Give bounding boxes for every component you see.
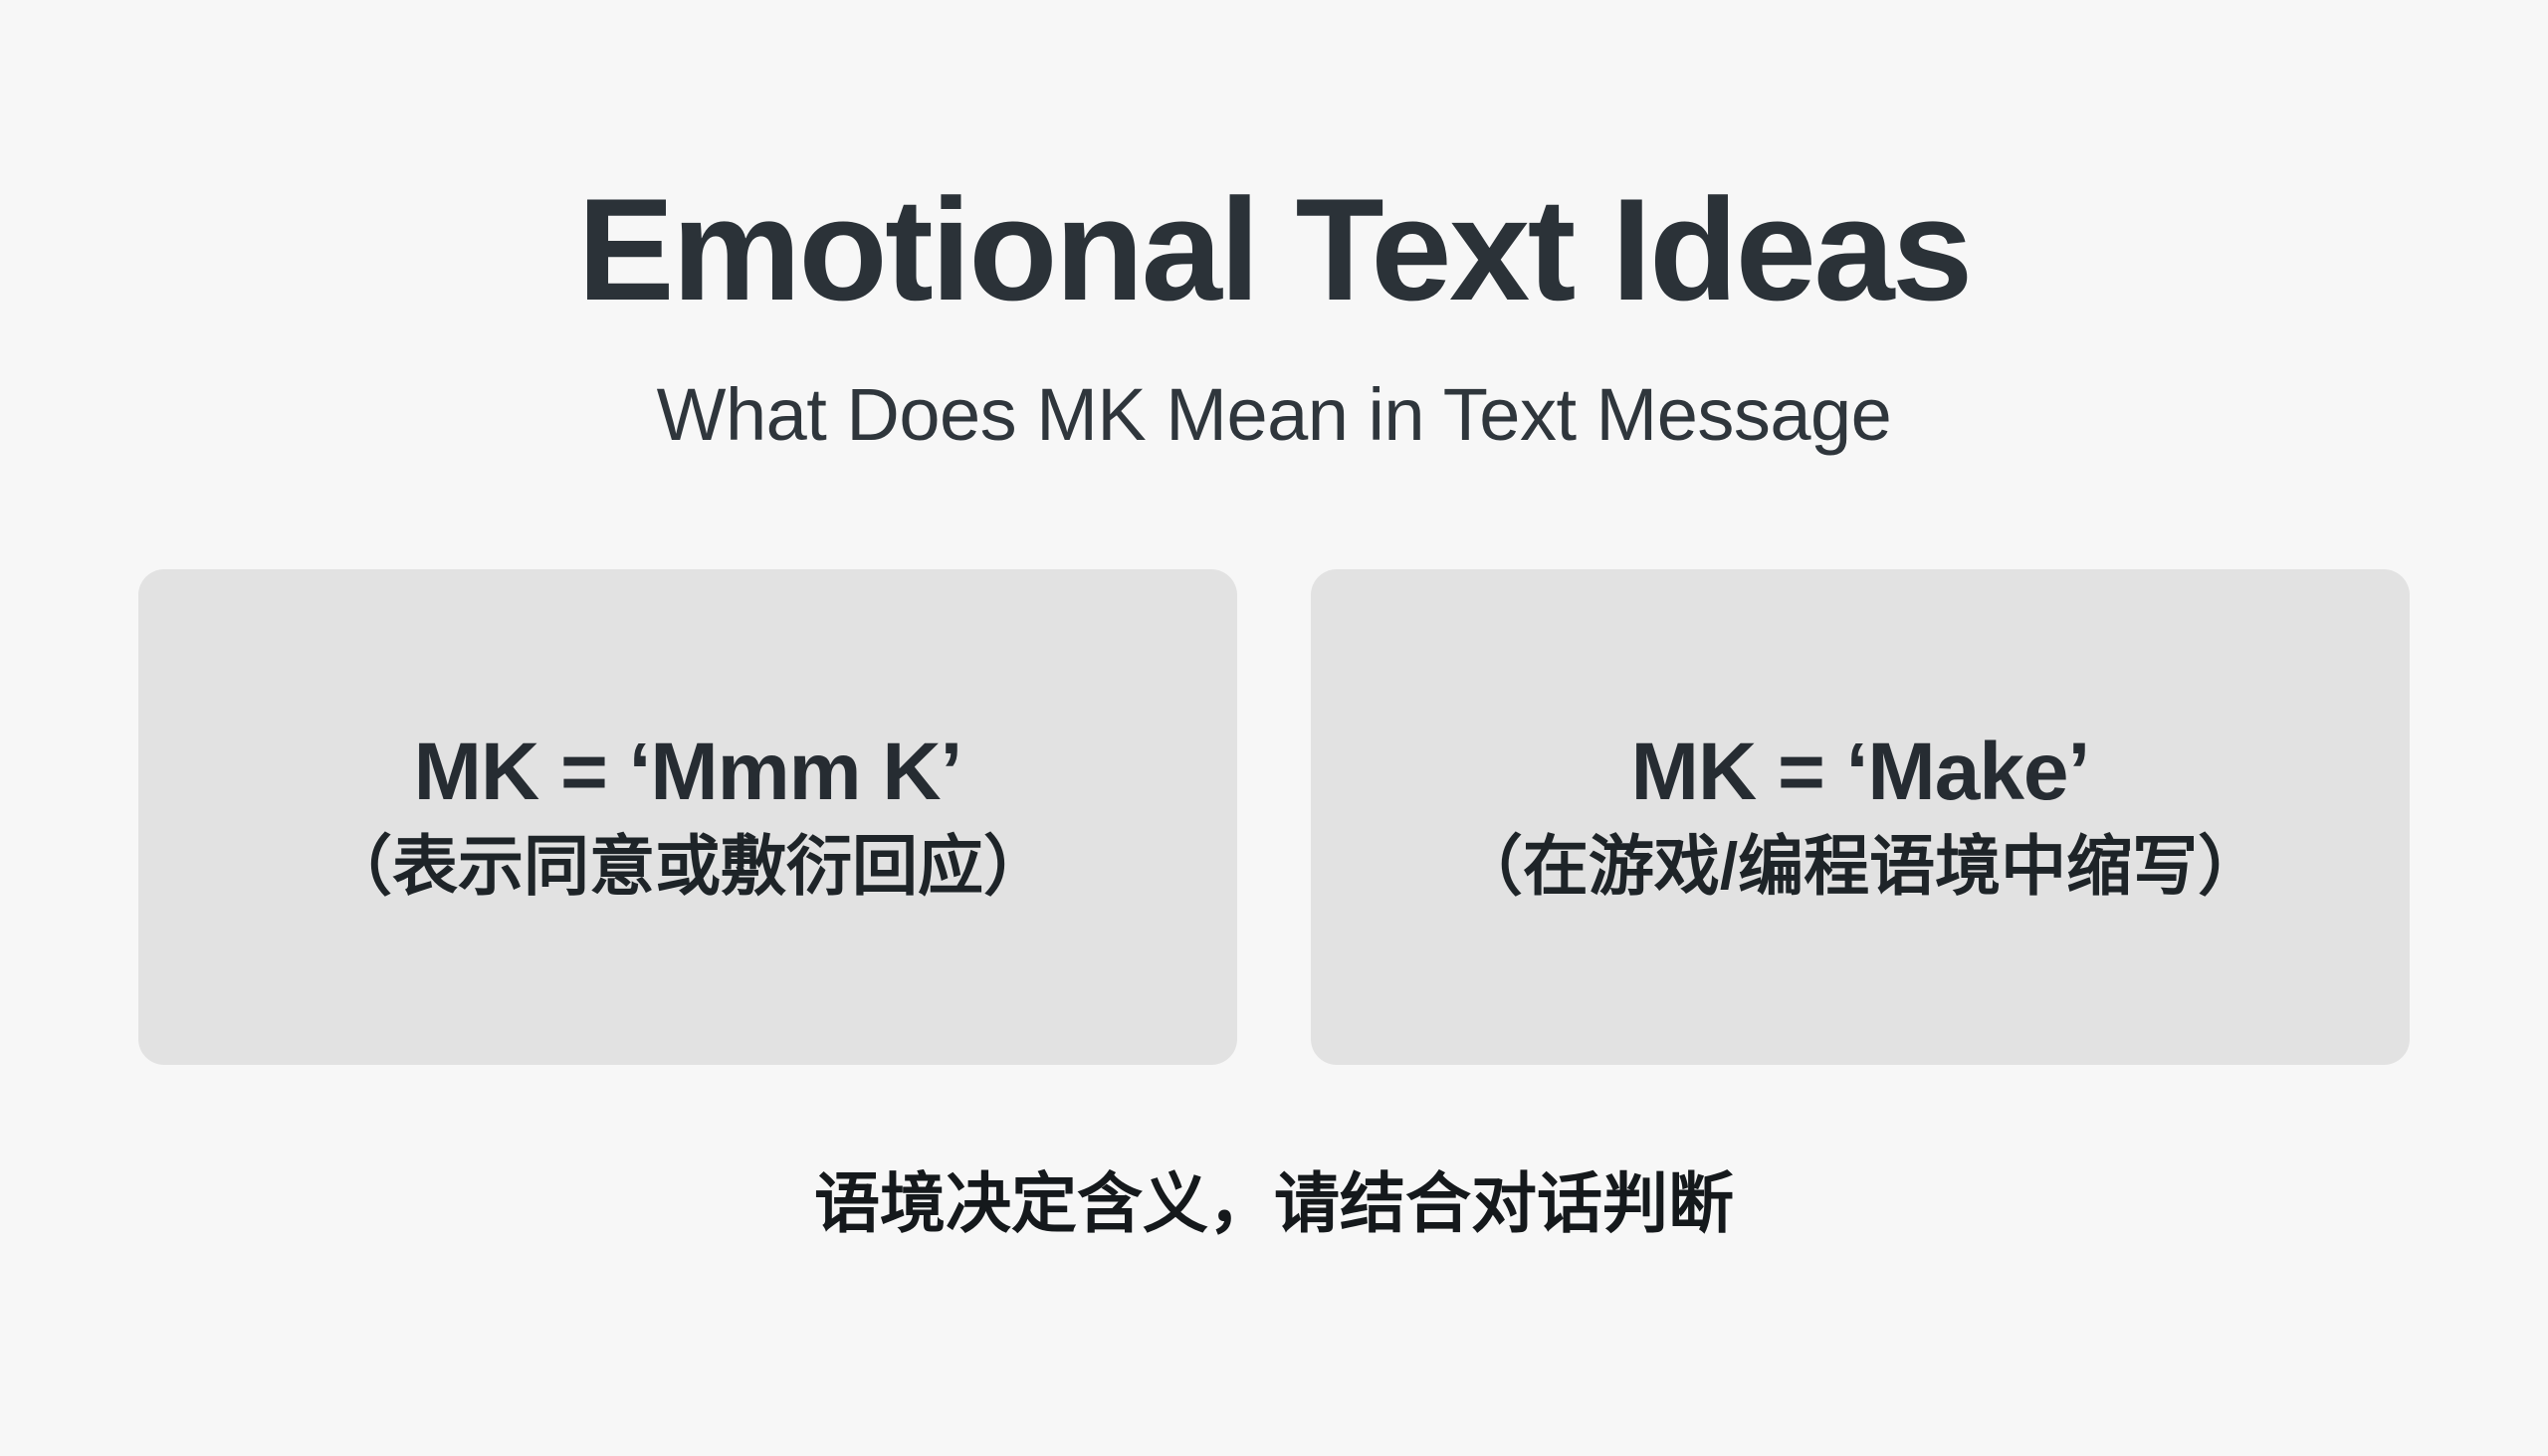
definition-card-mmm-k: MK = ‘Mmm K’ （表示同意或敷衍回应） [138,569,1237,1065]
card-note: （在游戏/编程语境中缩写） [1457,829,2263,905]
slide-header: Emotional Text Ideas What Does MK Mean i… [0,0,2548,452]
card-note: （表示同意或敷衍回应） [326,829,1049,905]
card-headline: MK = ‘Mmm K’ [414,729,962,815]
footer-note: 语境决定含义，请结合对话判断 [814,1170,1734,1236]
slide-root: Emotional Text Ideas What Does MK Mean i… [0,0,2548,1456]
page-subtitle: What Does MK Mean in Text Message [657,378,1892,452]
definition-cards-row: MK = ‘Mmm K’ （表示同意或敷衍回应） MK = ‘Make’ （在游… [138,569,2410,1065]
definition-card-make: MK = ‘Make’ （在游戏/编程语境中缩写） [1311,569,2410,1065]
page-title: Emotional Text Ideas [577,177,1971,322]
card-headline: MK = ‘Make’ [1631,729,2090,815]
